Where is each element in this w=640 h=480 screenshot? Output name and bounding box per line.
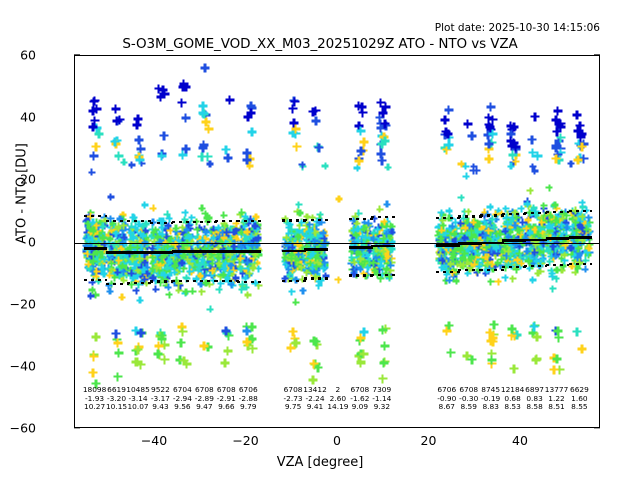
x-tick-label: 0 <box>333 433 341 448</box>
data-point <box>370 250 377 257</box>
data-point <box>359 138 368 147</box>
lower-sigma-segment <box>546 264 570 266</box>
lower-sigma-segment <box>436 271 460 273</box>
data-point <box>224 154 233 163</box>
data-point <box>508 325 517 334</box>
data-point <box>493 245 500 252</box>
data-point <box>220 271 227 278</box>
data-point <box>438 209 445 216</box>
data-point <box>115 257 122 264</box>
x-axis-label: VZA [degree] <box>0 455 640 470</box>
data-point <box>553 275 560 282</box>
data-point <box>387 262 394 269</box>
data-point <box>358 108 367 117</box>
data-point <box>134 115 143 124</box>
data-point <box>171 269 178 276</box>
mean-segment <box>304 248 328 251</box>
data-point <box>242 149 251 158</box>
mean-segment <box>172 250 196 253</box>
data-point <box>335 195 342 202</box>
data-point <box>510 123 519 132</box>
data-point <box>248 128 257 137</box>
data-point <box>238 265 245 272</box>
data-point <box>158 331 167 340</box>
data-point <box>132 224 139 231</box>
bin-stat-column: 6708-2.919.66 <box>217 386 236 412</box>
bin-std: 8.83 <box>481 403 500 412</box>
mean-segment <box>282 250 306 253</box>
data-point <box>582 266 589 273</box>
data-point <box>377 150 386 159</box>
data-point <box>574 127 583 136</box>
data-point <box>178 327 187 336</box>
bin-std: 9.56 <box>173 403 192 412</box>
zero-reference-line <box>75 243 599 244</box>
data-point <box>460 261 467 268</box>
data-point <box>186 235 193 242</box>
data-point <box>292 142 301 151</box>
upper-sigma-segment <box>84 215 108 217</box>
data-point <box>183 288 190 295</box>
data-point <box>223 347 232 356</box>
data-point <box>89 352 98 361</box>
data-point <box>89 123 98 132</box>
data-point <box>383 201 390 208</box>
data-point <box>195 265 202 272</box>
data-point <box>384 164 391 171</box>
data-point <box>135 136 144 145</box>
bin-stat-column: 6706-2.889.79 <box>239 386 258 412</box>
bin-stat-column: 9522-3.179.43 <box>151 386 170 412</box>
data-point <box>378 374 387 383</box>
bin-stat-column: 121840.688.53 <box>501 386 525 412</box>
data-point <box>485 140 494 149</box>
data-point <box>161 271 168 278</box>
data-point <box>200 342 209 351</box>
data-point <box>92 333 101 342</box>
data-point <box>207 306 214 313</box>
lower-sigma-segment <box>524 265 548 267</box>
data-point <box>356 127 365 136</box>
data-point <box>383 230 390 237</box>
data-point <box>487 355 496 364</box>
data-point <box>204 125 213 134</box>
data-point <box>322 163 329 170</box>
data-point <box>574 155 583 164</box>
data-point <box>523 248 530 255</box>
bin-std: 8.67 <box>437 403 456 412</box>
data-point <box>307 228 314 235</box>
data-point <box>303 269 310 276</box>
data-point <box>574 254 581 261</box>
data-point <box>441 115 450 124</box>
data-point <box>361 226 368 233</box>
data-point <box>312 117 321 126</box>
data-point <box>115 223 122 230</box>
data-point <box>573 327 582 336</box>
data-point <box>150 205 157 212</box>
data-point <box>378 258 385 265</box>
data-point <box>137 329 146 338</box>
data-point <box>216 286 223 293</box>
data-point <box>461 250 468 257</box>
data-point <box>244 113 253 122</box>
plot-frame <box>74 55 600 428</box>
lower-sigma-segment <box>172 280 196 282</box>
upper-sigma-segment <box>215 220 239 222</box>
mean-segment <box>193 250 217 253</box>
bin-stat-column: 18098-1.9310.27 <box>83 386 107 412</box>
data-point <box>112 117 121 126</box>
upper-sigma-segment <box>480 214 504 216</box>
data-point <box>189 288 196 295</box>
data-point <box>546 184 553 191</box>
data-point <box>292 299 299 306</box>
data-point <box>556 133 565 142</box>
bin-std: 8.51 <box>545 403 569 412</box>
data-point <box>553 107 562 116</box>
data-point <box>502 274 509 281</box>
data-point <box>313 263 320 270</box>
data-point <box>553 355 562 364</box>
bin-std: 9.66 <box>217 403 236 412</box>
data-point <box>290 97 299 106</box>
data-point <box>198 109 207 118</box>
data-point <box>356 358 365 367</box>
data-point <box>177 338 186 347</box>
lower-sigma-segment <box>282 280 306 282</box>
data-point <box>525 257 532 264</box>
data-point <box>89 151 98 160</box>
data-point <box>486 103 495 112</box>
data-point <box>114 348 123 357</box>
data-point <box>447 261 454 268</box>
data-point <box>321 259 328 266</box>
mean-segment <box>349 246 373 249</box>
data-point <box>89 107 98 116</box>
data-point <box>111 274 118 281</box>
upper-sigma-segment <box>127 220 151 222</box>
data-point <box>470 163 477 170</box>
plot-area <box>75 56 599 427</box>
data-point <box>291 124 300 133</box>
data-point <box>381 103 390 112</box>
data-point <box>446 277 453 284</box>
data-point <box>575 245 582 252</box>
upper-sigma-segment <box>150 222 174 224</box>
data-point <box>286 271 293 278</box>
data-point <box>453 277 460 284</box>
data-point <box>87 293 94 300</box>
data-point <box>128 161 135 168</box>
mean-segment <box>215 250 239 253</box>
mean-segment <box>524 239 548 242</box>
data-point <box>488 129 497 138</box>
data-point <box>509 275 516 282</box>
data-point <box>299 161 306 168</box>
data-point <box>153 264 160 271</box>
data-point <box>246 162 253 169</box>
data-point <box>359 233 366 240</box>
bin-std: 8.59 <box>459 403 478 412</box>
bin-std: 10.27 <box>83 403 107 412</box>
mean-segment <box>502 239 526 242</box>
data-point <box>531 112 540 121</box>
data-point <box>561 252 568 259</box>
lower-sigma-segment <box>349 274 373 276</box>
data-point <box>559 215 566 222</box>
data-point <box>163 264 170 271</box>
data-point <box>184 256 191 263</box>
data-point <box>446 348 455 357</box>
lower-sigma-segment <box>458 269 482 271</box>
bin-stat-column: 6708-1.629.09 <box>350 386 369 412</box>
data-point <box>223 229 230 236</box>
data-point <box>139 233 146 240</box>
data-point <box>112 329 121 338</box>
upper-sigma-segment <box>172 221 196 223</box>
upper-sigma-segment <box>458 215 482 217</box>
upper-sigma-segment <box>569 210 593 212</box>
data-point <box>553 266 560 273</box>
data-point <box>335 276 342 283</box>
data-point <box>207 160 214 167</box>
bin-std: 10.07 <box>126 403 150 412</box>
data-point <box>179 80 188 89</box>
data-point <box>180 356 189 365</box>
data-point <box>130 234 137 241</box>
x-tick-label: −20 <box>232 433 258 448</box>
data-point <box>128 270 135 277</box>
data-point <box>357 256 364 263</box>
bin-std: 8.58 <box>525 403 544 412</box>
data-point <box>505 248 512 255</box>
bin-std: 8.55 <box>570 403 589 412</box>
data-point <box>198 288 205 295</box>
data-point <box>202 228 209 235</box>
data-point <box>370 259 377 266</box>
bin-stat-column: 66291.608.55 <box>570 386 589 412</box>
bin-std: 8.53 <box>501 403 525 412</box>
mean-segment <box>436 244 460 247</box>
data-point <box>140 266 147 273</box>
data-point <box>246 270 253 277</box>
data-point <box>177 98 186 107</box>
data-point <box>510 364 519 373</box>
data-point <box>532 355 541 364</box>
data-point <box>295 201 302 208</box>
data-point <box>439 257 446 264</box>
data-point <box>238 209 245 216</box>
data-point <box>294 233 301 240</box>
lower-sigma-segment <box>193 280 217 282</box>
bin-std: 9.43 <box>151 403 170 412</box>
plot-date-label: Plot date: 2025-10-30 14:15:06 <box>435 22 600 34</box>
data-point <box>378 326 387 335</box>
data-point <box>443 129 452 138</box>
data-point <box>152 286 159 293</box>
data-point <box>309 359 318 368</box>
mean-segment <box>371 245 395 248</box>
upper-sigma-segment <box>282 219 306 221</box>
data-point <box>135 156 144 165</box>
data-point <box>160 90 169 99</box>
data-point <box>157 151 166 160</box>
data-point <box>463 120 472 129</box>
data-point <box>221 359 230 368</box>
data-point <box>482 232 489 239</box>
data-point <box>572 219 579 226</box>
data-point <box>308 376 317 385</box>
data-point <box>113 230 120 237</box>
bin-stat-column: 68970.838.58 <box>525 386 544 412</box>
bin-stat-column: 6706-0.908.67 <box>437 386 456 412</box>
data-point <box>114 152 123 161</box>
data-point <box>113 372 122 381</box>
data-point <box>252 223 259 230</box>
data-point <box>90 227 97 234</box>
data-point <box>530 322 539 331</box>
data-point <box>380 248 387 255</box>
data-point <box>511 143 520 152</box>
data-point <box>482 254 489 261</box>
data-point <box>360 328 369 337</box>
data-point <box>550 365 559 374</box>
mean-segment <box>237 250 261 253</box>
data-point <box>321 235 328 242</box>
data-point <box>468 132 477 141</box>
data-point <box>545 223 552 230</box>
data-point <box>88 169 95 176</box>
data-point <box>578 142 587 151</box>
data-point <box>137 297 144 304</box>
bin-stat-column: 6708-2.739.75 <box>284 386 303 412</box>
upper-sigma-segment <box>546 211 570 213</box>
data-point <box>215 254 222 261</box>
data-point <box>471 261 478 268</box>
data-point <box>380 342 389 351</box>
bin-stat-column: 6704-2.949.56 <box>173 386 192 412</box>
data-point <box>379 359 388 368</box>
data-point <box>307 253 314 260</box>
data-point <box>490 320 499 329</box>
data-point <box>481 218 488 225</box>
bin-std: 9.32 <box>372 403 391 412</box>
lower-sigma-segment <box>371 274 395 276</box>
data-point <box>355 157 364 166</box>
data-point <box>549 285 556 292</box>
lower-sigma-segment <box>304 277 328 279</box>
data-point <box>552 144 561 153</box>
data-point <box>198 152 207 161</box>
data-point <box>487 204 494 211</box>
mean-segment <box>480 242 504 245</box>
data-point <box>286 344 295 353</box>
data-point <box>531 249 538 256</box>
bin-std: 9.41 <box>303 403 327 412</box>
data-point <box>141 201 148 208</box>
data-point <box>172 263 179 270</box>
data-point <box>502 228 509 235</box>
mean-segment <box>569 236 593 239</box>
data-point <box>299 287 306 294</box>
data-point <box>90 258 97 265</box>
data-point <box>585 245 592 252</box>
lower-sigma-segment <box>215 280 239 282</box>
data-point <box>150 229 157 236</box>
lower-sigma-segment <box>84 279 108 281</box>
data-point <box>222 327 231 336</box>
y-axis-label: ATO - NTO [DU] <box>15 4 30 384</box>
lower-sigma-segment <box>569 263 593 265</box>
data-point <box>442 326 451 335</box>
data-point <box>552 201 559 208</box>
data-point <box>194 226 201 233</box>
data-point <box>160 355 169 364</box>
data-point <box>573 111 582 120</box>
data-point <box>438 227 445 234</box>
upper-sigma-segment <box>304 219 328 221</box>
x-tick-label: 20 <box>421 433 437 448</box>
data-point <box>529 276 536 283</box>
data-point <box>462 225 469 232</box>
data-point <box>220 212 227 219</box>
bin-stat-column: 13412-2.249.41 <box>303 386 327 412</box>
data-point <box>376 206 383 213</box>
data-point <box>528 135 537 144</box>
data-point <box>182 209 189 216</box>
data-point <box>99 223 106 230</box>
data-point <box>199 141 208 150</box>
mean-segment <box>127 251 151 254</box>
data-point <box>568 244 575 251</box>
data-point <box>141 240 148 247</box>
data-point <box>485 155 494 164</box>
data-point <box>462 163 469 170</box>
data-point <box>512 158 519 165</box>
mean-segment <box>150 251 174 254</box>
bin-stat-column: 6708-2.899.47 <box>195 386 214 412</box>
mean-segment <box>106 251 130 254</box>
data-point <box>182 145 191 154</box>
data-point <box>222 260 229 267</box>
data-point <box>458 194 465 201</box>
bin-std: 9.09 <box>350 403 369 412</box>
data-point <box>292 255 299 262</box>
data-point <box>202 210 209 217</box>
bin-stat-column: 6708-0.308.59 <box>459 386 478 412</box>
data-point <box>388 246 395 253</box>
page-title: S-O3M_GOME_VOD_XX_M03_20251029Z ATO - NT… <box>0 36 640 52</box>
data-point <box>529 163 536 170</box>
mean-segment <box>546 237 570 240</box>
data-point <box>444 141 453 150</box>
data-point <box>288 226 295 233</box>
data-point <box>225 96 234 105</box>
upper-sigma-segment <box>371 216 395 218</box>
data-point <box>107 193 114 200</box>
data-point <box>514 256 521 263</box>
upper-sigma-segment <box>106 220 130 222</box>
data-point <box>524 200 531 207</box>
bin-std: 9.75 <box>284 403 303 412</box>
data-point <box>494 260 501 267</box>
x-tick-label: 40 <box>512 433 528 448</box>
bin-stat-column: 8745-0.198.83 <box>481 386 500 412</box>
data-point <box>166 291 173 298</box>
upper-sigma-segment <box>349 218 373 220</box>
data-point <box>579 199 586 206</box>
